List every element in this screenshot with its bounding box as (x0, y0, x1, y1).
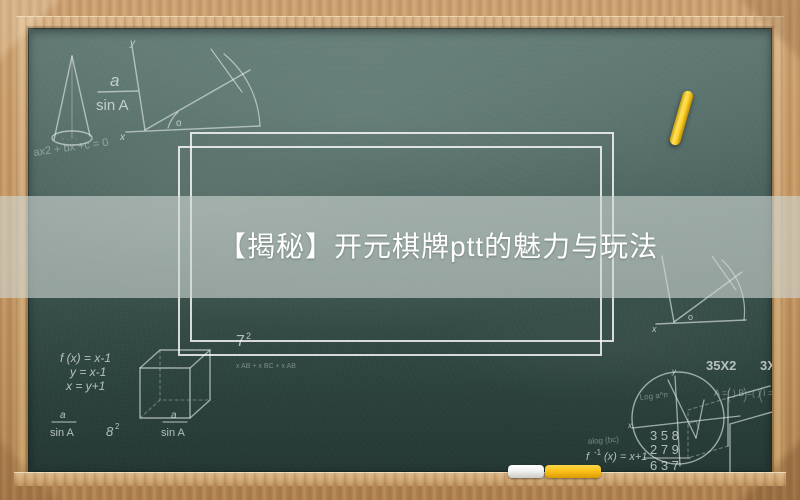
svg-text:x AB + x BC + x AB: x AB + x BC + x AB (236, 363, 296, 370)
svg-text:sin A: sin A (96, 97, 129, 114)
svg-text:o: o (176, 118, 182, 129)
fraction-a-sin-a-topleft: a sin A (96, 71, 138, 114)
svg-text:x: x (627, 421, 633, 430)
decorative-rectangle-inner (178, 146, 602, 356)
svg-text:sin A: sin A (161, 427, 186, 439)
matrix-dimensions: 35X2 3X2 (706, 358, 772, 373)
inverse-function-equation: f -1 (x) = x+1 (586, 448, 647, 463)
angle-axes-topleft: y x o (119, 38, 260, 143)
svg-text:7: 7 (236, 333, 245, 350)
subtraction-problem: 3 5 8 2 7 9 6 3 7 (644, 428, 690, 472)
white-chalk-icon (508, 465, 544, 478)
svg-text:f (x) = x-1: f (x) = x-1 (60, 351, 111, 365)
svg-text:6 3 7: 6 3 7 (650, 458, 679, 472)
svg-text:2: 2 (246, 331, 251, 341)
svg-text:3X2: 3X2 (760, 358, 772, 373)
svg-text:a: a (171, 410, 177, 421)
quadratic-equation-topleft: ax2 + bx +c = 0 (33, 137, 109, 159)
cone-drawing: · · · · (52, 56, 92, 145)
svg-text:y = x-1: y = x-1 (69, 365, 106, 379)
svg-text:A =( ) B =( ) I =( ): A =( ) B =( ) I =( ) (714, 388, 772, 398)
svg-text:(x) = x+1: (x) = x+1 (604, 451, 647, 463)
svg-text:a: a (60, 410, 66, 421)
svg-text:2 7 9: 2 7 9 (650, 442, 679, 457)
log-label: Log a^n (639, 390, 668, 402)
board-smudge (28, 28, 772, 472)
alog-label: alog (bc) (588, 435, 620, 446)
svg-text:2: 2 (115, 422, 120, 431)
eight-squared: 8 2 (106, 422, 120, 439)
cube-drawing-center (140, 350, 210, 418)
faded-equation: x AB + x BC + x AB (236, 363, 296, 370)
angle-axes-right: o x (651, 256, 746, 334)
board-texture (28, 28, 772, 472)
svg-text:x: x (119, 132, 126, 143)
svg-text:8: 8 (106, 424, 114, 439)
svg-text:o: o (688, 312, 693, 322)
yellow-chalk-icon (545, 465, 601, 478)
svg-text:y: y (671, 367, 677, 376)
svg-text:Log a^n: Log a^n (639, 390, 668, 402)
seven-squared: 7 2 (236, 331, 251, 350)
chalkboard-surface: · · · · a sin A ax2 + bx +c = 0 (28, 28, 772, 472)
chalk-ledge (14, 472, 786, 486)
svg-text:sin A: sin A (50, 427, 75, 439)
svg-text:x: x (651, 324, 657, 334)
circle-axes-drawing: y x (627, 367, 740, 466)
svg-text:y: y (129, 38, 136, 49)
svg-text:3 5 8: 3 5 8 (650, 428, 679, 443)
svg-text:alog (bc): alog (bc) (588, 435, 620, 446)
svg-text:x = y+1: x = y+1 (65, 379, 105, 393)
svg-text:f: f (586, 451, 590, 463)
svg-text:35X2: 35X2 (706, 358, 736, 373)
fraction-a-sin-a-bottommid: a sin A (161, 410, 187, 439)
svg-text:-1: -1 (594, 448, 602, 457)
decorative-rectangle-outer (190, 132, 614, 342)
svg-text:a: a (110, 71, 119, 90)
svg-text:ax2 + bx +c = 0: ax2 + bx +c = 0 (33, 137, 109, 159)
fraction-a-sin-a-bottomleft: a sin A (50, 410, 76, 439)
matrix-expressions: A =( ) B =( ) I =( ) (714, 388, 772, 402)
function-equations-bottom: f (x) = x-1 y = x-1 x = y+1 (60, 351, 111, 393)
chalkboard-banner: · · · · a sin A ax2 + bx +c = 0 (0, 0, 800, 500)
chalk-drawings: · · · · a sin A ax2 + bx +c = 0 (28, 28, 772, 472)
cube-drawing-right (688, 386, 772, 472)
svg-text:· · · ·: · · · · (62, 136, 77, 143)
